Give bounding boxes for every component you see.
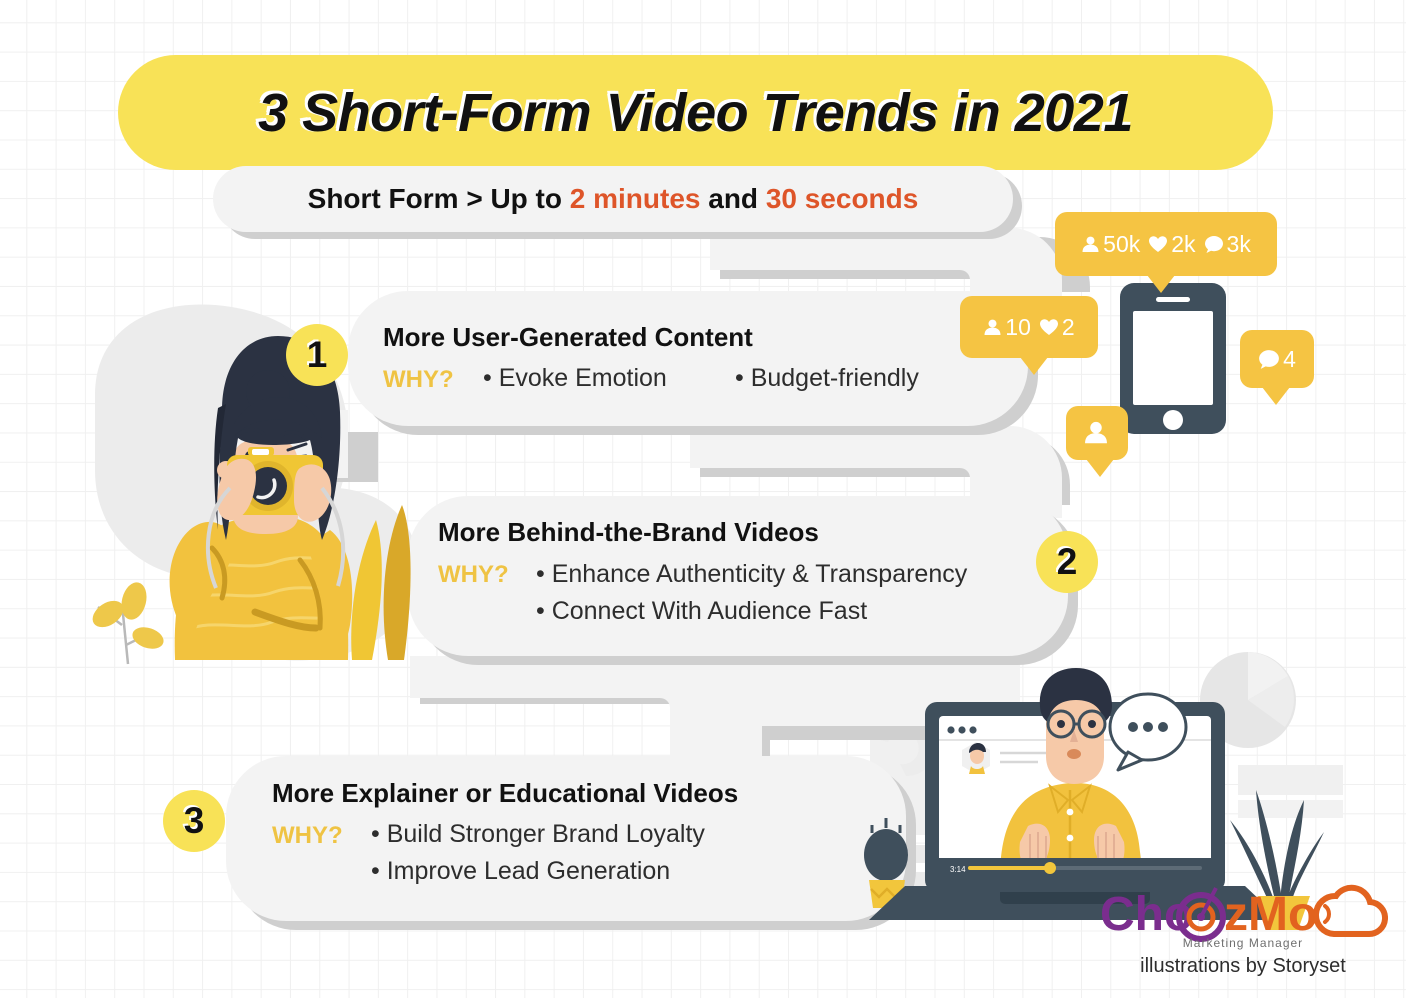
choozmo-logo: Cho zMo (1098, 884, 1388, 942)
cloud-icon (1316, 888, 1385, 934)
logo-text-orange: zMo (1224, 888, 1317, 941)
svg-text:3:14: 3:14 (950, 865, 966, 874)
illustration-credit: illustrations by Storyset (1088, 955, 1398, 978)
man-on-laptop-video-illustration: 3:14 (0, 0, 1406, 998)
logo-subtitle: Marketing Manager (1098, 936, 1388, 950)
